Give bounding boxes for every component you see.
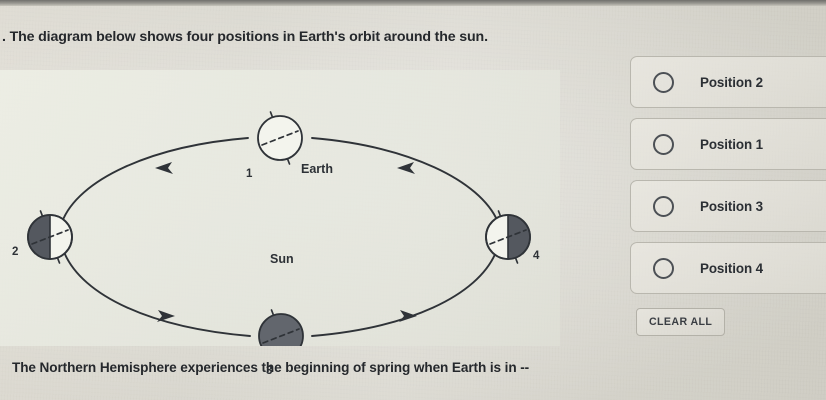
- arrow-upper-right: [397, 162, 415, 174]
- arrow-lower-left: [157, 310, 175, 322]
- earth-position-4: [486, 211, 530, 263]
- orbit-arc-upper-right: [312, 138, 498, 222]
- night-side-2: [28, 215, 50, 259]
- orbit-diagram-panel: Earth Sun 1 2 3 4: [0, 70, 560, 346]
- answer-option-label: Position 4: [700, 261, 763, 276]
- orbit-arc-lower-right: [312, 252, 496, 336]
- night-side-4: [508, 215, 530, 259]
- radio-button-icon[interactable]: [653, 134, 674, 155]
- orbit-path: [62, 138, 498, 336]
- answer-option-2[interactable]: Position 3: [630, 180, 826, 232]
- earth-position-1: [258, 112, 302, 164]
- earth-position-3: [259, 310, 303, 346]
- position-4-label: 4: [533, 250, 539, 262]
- earth-label: Earth: [301, 162, 333, 176]
- answer-option-label: Position 2: [700, 75, 763, 90]
- radio-button-icon[interactable]: [653, 196, 674, 217]
- question-prompt-top: . The diagram below shows four positions…: [2, 29, 622, 45]
- answer-option-1[interactable]: Position 1: [630, 118, 826, 170]
- arrow-upper-left: [155, 162, 173, 174]
- sun-label: Sun: [270, 252, 294, 266]
- screen-top-edge: [0, 0, 826, 6]
- radio-button-icon[interactable]: [653, 72, 674, 93]
- orbit-arc-lower-left: [64, 252, 250, 336]
- answer-option-3[interactable]: Position 4: [630, 242, 826, 294]
- answer-options-list: Position 2 Position 1 Position 3 Positio…: [630, 56, 826, 304]
- position-1-label: 1: [246, 168, 252, 180]
- clear-all-button[interactable]: CLEAR ALL: [636, 308, 725, 336]
- answer-option-0[interactable]: Position 2: [630, 56, 826, 108]
- orbit-direction-arrows: [155, 162, 417, 322]
- radio-button-icon[interactable]: [653, 258, 674, 279]
- answer-option-label: Position 1: [700, 137, 763, 152]
- orbit-arc-upper-left: [62, 138, 248, 222]
- position-2-label: 2: [12, 246, 18, 258]
- answer-option-label: Position 3: [700, 199, 763, 214]
- question-prompt-bottom: The Northern Hemisphere experiences the …: [12, 360, 652, 375]
- orbit-diagram-svg: [0, 70, 560, 346]
- arrow-lower-right: [399, 310, 417, 322]
